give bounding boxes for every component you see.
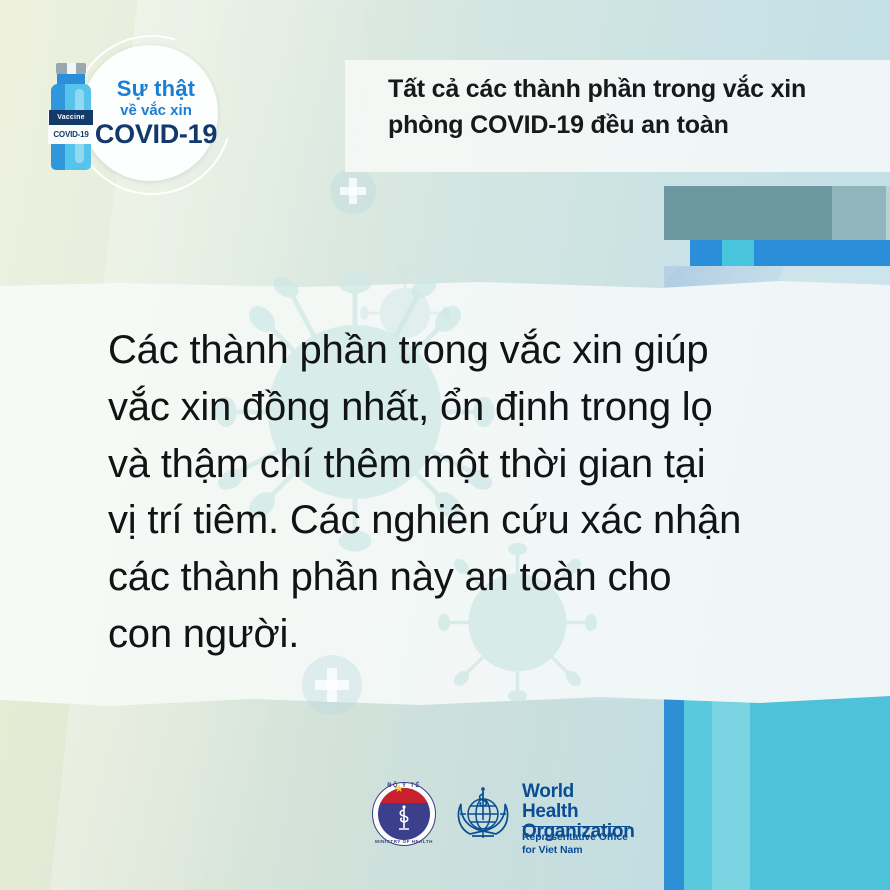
brand-badge: Vaccine COVID-19 Sự thật về vắc xin COVI… [20,33,240,193]
badge-line-3: COVID-19 [95,121,217,148]
body-line-2: vắc xin đồng nhất, ổn định trong lọ [108,379,838,436]
badge-vial-label-top: Vaccine [49,110,93,125]
badge-line-1: Sự thật [117,78,195,100]
who-subtitle: Representative Office for Viet Nam [522,831,642,857]
badge-vaccine-vial-icon: Vaccine COVID-19 [48,63,94,173]
body-line-3: và thậm chí thêm một thời gian tại [108,436,838,493]
banner-line-2: phòng COVID-19 đều an toàn [388,108,858,144]
badge-vial-label-bottom: COVID-19 [49,127,93,141]
banner-line-1: Tất cả các thành phần trong vắc xin [388,72,858,108]
who-sub-line-1: Representative Office [522,831,642,844]
footer-logos: ★ BỘ Y TẾ MINISTRY OF HEALTH [0,772,890,890]
vial-cap [664,186,854,240]
medical-plus-icon-2 [302,655,362,715]
medical-plus-icon [330,168,376,214]
ministry-of-health-logo: ★ BỘ Y TẾ MINISTRY OF HEALTH [372,782,436,846]
body-line-1: Các thành phần trong vắc xin giúp [108,322,838,379]
infographic-poster: Vaccine COVID-19 Sự thật về vắc xin COVI… [0,0,890,890]
who-divider [522,826,630,827]
moh-bottom-label: MINISTRY OF HEALTH [372,839,436,844]
badge-text-block: Sự thật về vắc xin COVID-19 [90,55,222,171]
body-line-4: vị trí tiêm. Các nghiên cứu xác nhận [108,492,838,549]
header-banner-text: Tất cả các thành phần trong vắc xin phòn… [388,72,858,143]
body-line-5: các thành phần này an toàn cho [108,549,838,606]
vial-collar [690,240,890,266]
moh-top-label: BỘ Y TẾ [372,783,436,789]
badge-line-2: về vắc xin [120,103,192,118]
who-name-line-1: World Health [522,782,634,822]
who-logo: World Health Organization Representative… [452,780,632,856]
body-line-6: con người. [108,606,838,663]
who-sub-line-2: for Viet Nam [522,844,642,857]
who-emblem-icon [452,784,514,846]
main-body-text: Các thành phần trong vắc xin giúp vắc xi… [108,322,838,663]
